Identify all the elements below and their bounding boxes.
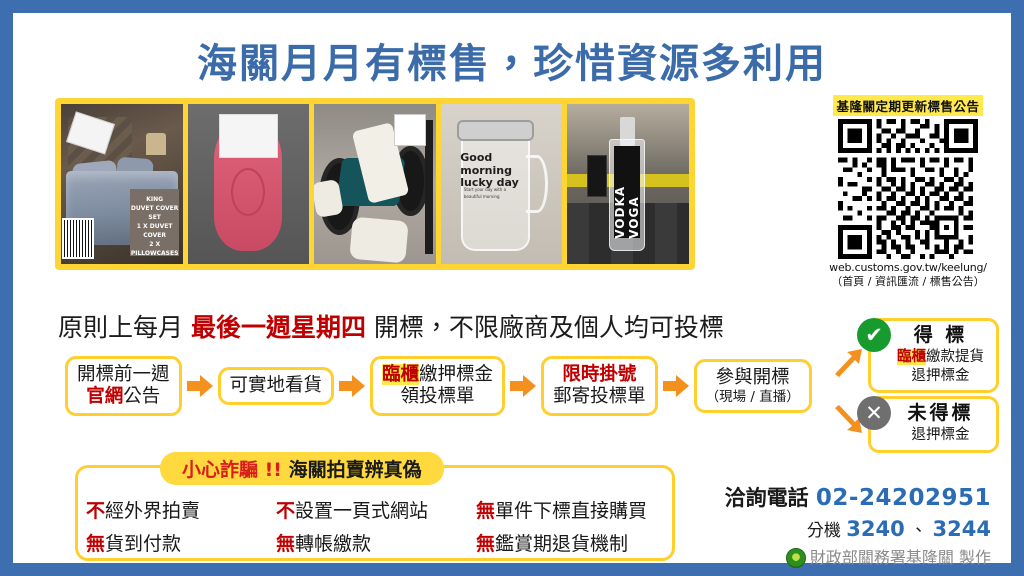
customs-emblem-icon	[786, 548, 806, 568]
photo-vodka-bottle: VODKA VOGA VODKA VOGA	[567, 104, 689, 264]
process-flow: 開標前一週 官網公告 可實地看貨 臨櫃繳押標金 領投標單 限時掛號 郵寄投標單 …	[65, 356, 812, 416]
flow-step-announcement[interactable]: 開標前一週 官網公告	[65, 356, 182, 416]
fraud-item-text: 設置一頁式網站	[295, 500, 428, 522]
fraud-item-neg: 無	[476, 500, 495, 522]
qr-code-image[interactable]	[838, 119, 978, 259]
qr-block: 基隆關定期更新標售公告	[819, 95, 997, 290]
flow-step-inspect[interactable]: 可實地看貨	[218, 367, 335, 405]
mug-lid	[457, 120, 535, 141]
cross-circle-icon: ✕	[857, 396, 891, 430]
photo-pink-insole: 粉紅色襪套	[188, 104, 310, 264]
photo-caption: 電動自行車	[314, 255, 344, 264]
step-line-2: 官網公告	[77, 386, 170, 408]
flow-step-mail[interactable]: 限時掛號 郵寄投標單	[541, 356, 658, 416]
arrow-to-won-icon	[831, 347, 865, 377]
contact-footer-line: 財政部關務署基隆關 製作	[725, 546, 991, 570]
result-line-1: 臨櫃繳款提貨	[889, 348, 992, 367]
fraud-item-neg: 無	[86, 533, 105, 555]
fraud-items-grid: 不經外界拍賣 不設置一頁式網站 無單件下標直接購買 無貨到付款 無轉帳繳款 無鑑…	[78, 496, 672, 556]
step-line-2-rest: 公告	[123, 386, 160, 407]
step-line-1-rest: 繳押標金	[419, 364, 493, 385]
fraud-item: 不經外界拍賣	[86, 496, 276, 523]
fraud-title-red: 小心詐騙 !!	[182, 459, 282, 481]
label-line-4: 2 X PILLOWCASES	[130, 240, 179, 258]
fraud-warning-box: 小心詐騙 !! 海關拍賣辨真偽 不經外界拍賣 不設置一頁式網站 無單件下標直接購…	[75, 465, 675, 561]
photo-caption: 粉紅色襪套	[188, 255, 218, 264]
fraud-item: 不設置一頁式網站	[276, 496, 476, 523]
label-line-2: DUVET COVER SET	[130, 204, 179, 222]
headline-text: 原則上每月 最後一週星期四 開標，不限廠商及個人均可投標	[58, 308, 724, 344]
check-circle-icon: ✔	[857, 318, 891, 352]
step-line-1-highlight: 臨櫃	[382, 364, 419, 385]
step-line-2: （現場 / 直播）	[706, 389, 800, 405]
step-line-1: 臨櫃繳押標金	[382, 364, 493, 386]
bottle-hang-tag	[587, 155, 608, 197]
photo-strip: KING DUVET COVER SET 1 X DUVET COVER 2 X…	[55, 98, 695, 270]
step-line-1: 限時掛號	[553, 364, 646, 386]
contact-ext-1: 3240	[846, 517, 904, 541]
step-line-1: 可實地看貨	[230, 375, 323, 397]
warehouse-post	[425, 120, 434, 254]
fraud-item: 無鑑賞期退貨機制	[476, 529, 686, 556]
bottle-brand-text: VODKA VOGA	[613, 146, 641, 239]
fraud-item-text: 貨到付款	[105, 533, 181, 555]
result-line-1-rest: 繳款提貨	[926, 349, 984, 365]
fraud-item-neg: 不	[276, 500, 295, 522]
fraud-item-text: 單件下標直接購買	[495, 500, 647, 522]
contact-phone-number[interactable]: 02-24202951	[816, 485, 991, 511]
fraud-item: 無貨到付款	[86, 529, 276, 556]
fraud-item: 無轉帳繳款	[276, 529, 476, 556]
mug-subtext: Start your day with a beautiful morning	[464, 187, 525, 200]
fraud-warning-title: 小心詐騙 !! 海關拍賣辨真偽	[160, 452, 444, 485]
photo-caption: Good morning lucky day	[441, 257, 514, 264]
result-title: 未得標	[889, 402, 992, 426]
result-title: 得 標	[889, 324, 992, 348]
flow-step-bidopen[interactable]: 參與開標 （現場 / 直播）	[694, 359, 812, 413]
qr-url-text: web.customs.gov.tw/keelung/	[819, 261, 997, 275]
poster-root: 海關月月有標售，珍惜資源多利用 KING DUVET COVER SET 1 X…	[0, 0, 1024, 576]
hang-tag	[219, 114, 277, 159]
headline-part-1: 原則上每月	[58, 313, 191, 342]
bottle-label: VODKA VOGA	[614, 146, 641, 239]
fraud-item-text: 經外界拍賣	[105, 500, 200, 522]
contact-phone-label: 洽詢電話	[725, 486, 809, 510]
photo-caption: VODKA VOGA	[567, 257, 608, 264]
contact-block: 洽詢電話 02-24202951 分機 3240 、 3244 財政部關務署基隆…	[725, 483, 991, 570]
mug-text: Good morning lucky day	[460, 152, 535, 190]
fraud-title-dark: 海關拍賣辨真偽	[289, 459, 422, 481]
step-line-1: 參與開標	[706, 367, 800, 389]
flow-step-deposit[interactable]: 臨櫃繳押標金 領投標單	[370, 356, 505, 416]
flow-arrow-icon-4	[663, 375, 689, 397]
fraud-item: 無單件下標直接購買	[476, 496, 686, 523]
result-box-won[interactable]: ✔ 得 標 臨櫃繳款提貨 退押標金	[868, 318, 999, 393]
qr-heading: 基隆關定期更新標售公告	[833, 95, 982, 116]
fraud-item-neg: 無	[476, 533, 495, 555]
contact-ext-separator: 、	[910, 521, 927, 541]
fraud-item-text: 鑑賞期退貨機制	[495, 533, 628, 555]
flow-arrow-icon-2	[339, 375, 365, 397]
step-line-2: 領投標單	[382, 386, 493, 408]
fraud-item-neg: 不	[86, 500, 105, 522]
fraud-item-text: 轉帳繳款	[295, 533, 371, 555]
result-box-lost[interactable]: ✕ 未得標 退押標金	[868, 396, 999, 453]
photo-duvet-cover-set: KING DUVET COVER SET 1 X DUVET COVER 2 X…	[61, 104, 183, 264]
flow-arrow-icon-3	[510, 375, 536, 397]
step-line-2-red: 官網	[86, 386, 123, 407]
step-line-2: 郵寄投標單	[553, 386, 646, 408]
photo-glass-mug: Good morning lucky day Start your day wi…	[441, 104, 563, 264]
wall-sign	[394, 114, 426, 146]
contact-ext-label: 分機	[807, 521, 841, 541]
photo-electric-bicycle: 電動自行車	[314, 104, 436, 264]
contact-ext-2: 3244	[933, 517, 991, 541]
step-line-1: 開標前一週	[77, 364, 170, 386]
mug-text-line-1: Good morning	[460, 152, 535, 177]
label-line-1: KING	[130, 195, 179, 204]
page-title: 海關月月有標售，珍惜資源多利用	[13, 31, 1011, 89]
result-line-2: 退押標金	[889, 426, 992, 445]
package-label: KING DUVET COVER SET 1 X DUVET COVER 2 X…	[130, 189, 179, 256]
result-line-2: 退押標金	[889, 367, 992, 386]
result-line-1-highlight: 臨櫃	[897, 349, 926, 365]
contact-footer-text: 財政部關務署基隆關 製作	[810, 546, 991, 570]
fraud-item-neg: 無	[276, 533, 295, 555]
contact-ext-line: 分機 3240 、 3244	[725, 514, 991, 546]
qr-path-text: （首頁 / 資訊匯流 / 標售公告）	[819, 275, 997, 290]
headline-part-2: 開標，不限廠商及個人均可投標	[366, 313, 724, 342]
lamp-shape	[146, 133, 165, 155]
label-line-3: 1 X DUVET COVER	[130, 222, 179, 240]
flow-arrow-icon-1	[187, 375, 213, 397]
photo-caption: KING DUVET COVER SET	[61, 257, 134, 264]
barcode	[62, 218, 94, 260]
contact-phone-line: 洽詢電話 02-24202951	[725, 483, 991, 514]
headline-highlight: 最後一週星期四	[191, 313, 366, 342]
foam-wrap-2	[349, 217, 408, 263]
